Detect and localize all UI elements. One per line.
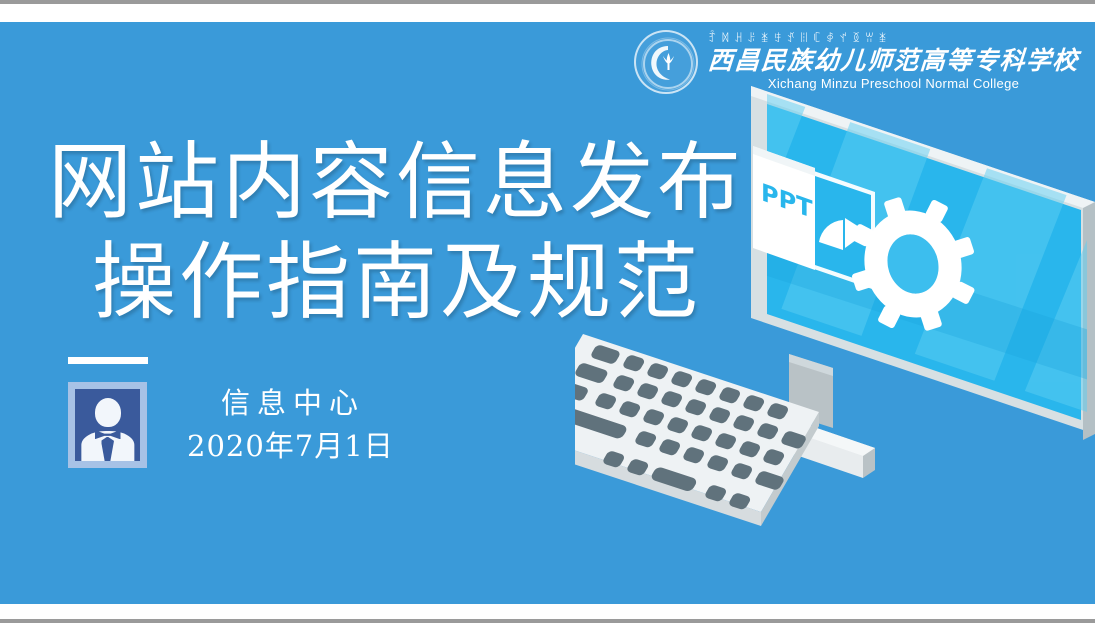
top-divider-rule (0, 0, 1095, 4)
slide-canvas: ꆇꉙꃅꌠꁧꄜꀋꈨꏸꇉꀈꅉꀕꁧ 西昌民族幼儿师范高等专科学校 Xichang Mi… (0, 22, 1095, 604)
presenter-avatar-icon (68, 382, 147, 468)
byline-date: 2020年7月1日 (187, 430, 394, 463)
keyboard (575, 334, 819, 526)
bottom-divider-rule (0, 619, 1095, 623)
title-accent-bar (68, 357, 148, 364)
byline-text-block: 信息中心 2020年7月1日 (187, 387, 394, 463)
college-name-chinese: 西昌民族幼儿师范高等专科学校 (707, 46, 1080, 75)
isometric-computer-illustration: PPT (575, 82, 1095, 542)
byline-department: 信息中心 (187, 387, 394, 420)
slide-frame: ꆇꉙꃅꌠꁧꄜꀋꈨꏸꇉꀈꅉꀕꁧ 西昌民族幼儿师范高等专科学校 Xichang Mi… (0, 0, 1095, 623)
college-name-yi: ꆇꉙꃅꌠꁧꄜꀋꈨꏸꇉꀈꅉꀕꁧ (708, 32, 1079, 45)
byline-row: 信息中心 2020年7月1日 (68, 382, 394, 468)
